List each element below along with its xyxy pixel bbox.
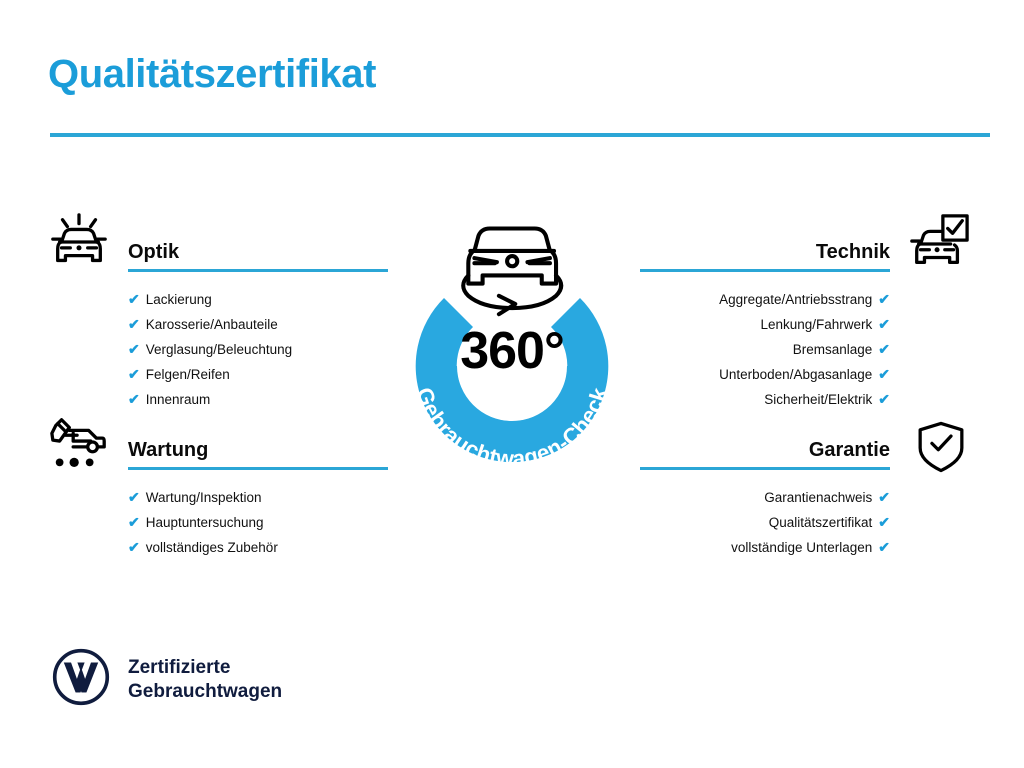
check-icon: ✔ xyxy=(128,341,140,357)
list-item: ✔Karosserie/Anbauteile xyxy=(128,312,388,337)
check-icon: ✔ xyxy=(128,366,140,382)
list-item: ✔Wartung/Inspektion xyxy=(128,485,388,510)
list-item: ✔Felgen/Reifen xyxy=(128,362,388,387)
list-item-label: Unterboden/Abgasanlage xyxy=(719,367,872,382)
list-item-label: Karosserie/Anbauteile xyxy=(146,317,278,332)
check-icon: ✔ xyxy=(128,514,140,530)
list-item: Aggregate/Antriebsstrang✔ xyxy=(640,287,890,312)
vw-wordmark: Zertifizierte Gebrauchtwagen xyxy=(128,656,282,704)
header-divider xyxy=(50,133,990,137)
list-item-label: Bremsanlage xyxy=(793,342,873,357)
checklist-wartung: ✔Wartung/Inspektion ✔Hauptuntersuchung ✔… xyxy=(128,485,388,560)
check-icon: ✔ xyxy=(878,316,890,332)
list-item-label: Aggregate/Antriebsstrang xyxy=(719,292,872,307)
section-heading-optik: Optik xyxy=(128,240,388,264)
vw-wordmark-line2: Gebrauchtwagen xyxy=(128,680,282,704)
list-item: Bremsanlage✔ xyxy=(640,337,890,362)
car-shine-icon xyxy=(48,212,110,274)
section-wartung: Wartung ✔Wartung/Inspektion ✔Hauptunters… xyxy=(128,438,388,560)
section-divider-optik xyxy=(128,269,388,272)
section-garantie: Garantie Garantienachweis✔ Qualitätszert… xyxy=(640,438,890,560)
list-item-label: Felgen/Reifen xyxy=(146,367,230,382)
checklist-optik: ✔Lackierung ✔Karosserie/Anbauteile ✔Verg… xyxy=(128,287,388,412)
check-icon: ✔ xyxy=(128,539,140,555)
list-item-label: Garantienachweis xyxy=(764,490,872,505)
check-icon: ✔ xyxy=(878,391,890,407)
check-icon: ✔ xyxy=(128,291,140,307)
list-item: ✔Hauptuntersuchung xyxy=(128,510,388,535)
pencil-car-service-icon xyxy=(48,412,110,474)
section-divider-technik xyxy=(640,269,890,272)
list-item: ✔vollständiges Zubehör xyxy=(128,535,388,560)
section-divider-garantie xyxy=(640,467,890,470)
vw-logo-block: Zertifizierte Gebrauchtwagen xyxy=(52,648,282,711)
list-item: ✔Verglasung/Beleuchtung xyxy=(128,337,388,362)
list-item-label: Wartung/Inspektion xyxy=(146,490,262,505)
list-item-label: Lenkung/Fahrwerk xyxy=(760,317,872,332)
list-item: Unterboden/Abgasanlage✔ xyxy=(640,362,890,387)
list-item-label: Lackierung xyxy=(146,292,212,307)
vw-wordmark-line1: Zertifizierte xyxy=(128,656,282,680)
list-item: vollständige Unterlagen✔ xyxy=(640,535,890,560)
check-icon: ✔ xyxy=(878,366,890,382)
list-item-label: Innenraum xyxy=(146,392,211,407)
list-item: ✔Innenraum xyxy=(128,387,388,412)
check-icon: ✔ xyxy=(878,489,890,505)
section-heading-technik: Technik xyxy=(640,240,890,264)
checklist-technik: Aggregate/Antriebsstrang✔ Lenkung/Fahrwe… xyxy=(640,287,890,412)
section-divider-wartung xyxy=(128,467,388,470)
list-item: Lenkung/Fahrwerk✔ xyxy=(640,312,890,337)
list-item-label: vollständige Unterlagen xyxy=(731,540,872,555)
section-technik: Technik Aggregate/Antriebsstrang✔ Lenkun… xyxy=(640,240,890,412)
check-icon: ✔ xyxy=(878,341,890,357)
shield-check-icon xyxy=(912,418,974,480)
vw-logo xyxy=(52,648,110,711)
checklist-garantie: Garantienachweis✔ Qualitätszertifikat✔ v… xyxy=(640,485,890,560)
check-icon: ✔ xyxy=(878,291,890,307)
check-icon: ✔ xyxy=(878,514,890,530)
list-item-label: Sicherheit/Elektrik xyxy=(764,392,872,407)
list-item-label: Verglasung/Beleuchtung xyxy=(146,342,292,357)
section-optik: Optik ✔Lackierung ✔Karosserie/Anbauteile… xyxy=(128,240,388,412)
360-check-badge: Gebrauchtwagen-Check 360° xyxy=(372,196,652,486)
list-item-label: Qualitätszertifikat xyxy=(769,515,873,530)
list-item-label: Hauptuntersuchung xyxy=(146,515,264,530)
page-title: Qualitätszertifikat xyxy=(48,52,376,97)
check-icon: ✔ xyxy=(128,391,140,407)
list-item: Garantienachweis✔ xyxy=(640,485,890,510)
section-heading-garantie: Garantie xyxy=(640,438,890,462)
list-item: ✔Lackierung xyxy=(128,287,388,312)
section-heading-wartung: Wartung xyxy=(128,438,388,462)
check-icon: ✔ xyxy=(128,489,140,505)
check-icon: ✔ xyxy=(128,316,140,332)
list-item-label: vollständiges Zubehör xyxy=(146,540,278,555)
list-item: Qualitätszertifikat✔ xyxy=(640,510,890,535)
car-checkbox-icon xyxy=(908,212,970,274)
check-icon: ✔ xyxy=(878,539,890,555)
list-item: Sicherheit/Elektrik✔ xyxy=(640,387,890,412)
